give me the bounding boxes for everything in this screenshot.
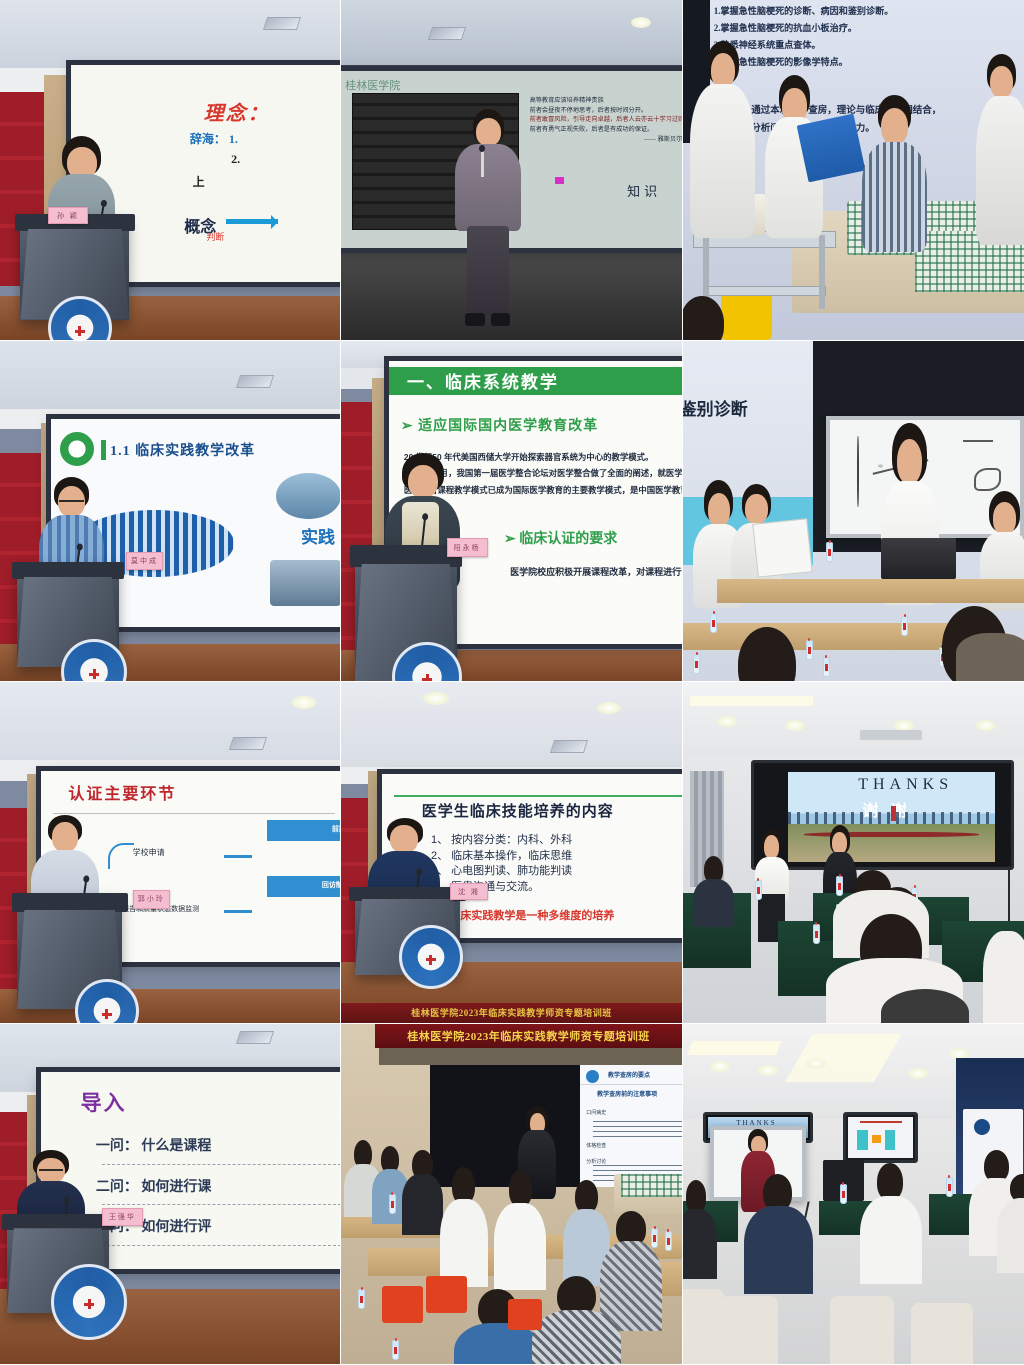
chair-back — [721, 1296, 779, 1364]
wall-tv — [843, 1112, 918, 1163]
slide-line-1: ➢ 适应国际国内医学教育改革 — [401, 415, 598, 435]
stool — [508, 1299, 542, 1330]
event-banner: 桂林医学院2023年临床实践教学师资专题培训班 — [375, 1024, 682, 1048]
water-bottle — [826, 542, 833, 562]
flow-arrow-icon-3 — [224, 910, 252, 913]
water-bottle — [389, 1194, 396, 1214]
slide-keyword: 实践 — [301, 523, 335, 548]
event-banner: 桂林医学院2023年临床实践教学师资专题培训班 — [341, 1003, 682, 1023]
photo-cell-1[interactable]: 理念： 辞海： 1. 2. 上 概念 判断 孙 颖 — [0, 0, 341, 341]
slide-line-2: 前者会昼夜不停地思考，后者按时间分开。 — [530, 106, 683, 116]
slide-title: 鉴别诊断 — [683, 395, 748, 420]
audience-member — [744, 1174, 812, 1290]
audience-member-front — [532, 1276, 621, 1365]
water-bottle — [665, 1231, 672, 1251]
stool — [426, 1276, 467, 1313]
eyeglasses-icon — [39, 1169, 63, 1173]
photo-cell-4[interactable]: 1.1 临床实践教学改革 实践 莫中成 — [0, 341, 341, 682]
water-bottle — [693, 654, 700, 674]
slide-title: 1.1 临床实践教学改革 — [110, 440, 255, 460]
chair-back — [830, 1296, 895, 1364]
flow-arrow-icon — [108, 843, 134, 869]
water-bottle — [840, 1184, 847, 1204]
flow-arrow-icon-2 — [224, 855, 252, 858]
photo-thumb-top — [276, 473, 341, 519]
slide-line-3: 3、 心电图判读、肺功能判读 — [431, 864, 683, 880]
slide-line-3: 3.熟悉神经系统重点查体。 — [714, 37, 1024, 54]
slide-line-1: 高等教育应该培养精神贵族 — [530, 96, 683, 106]
student-right — [976, 54, 1024, 244]
flow-box-1-label: 前期准 — [332, 824, 341, 834]
eyeglasses-icon — [59, 500, 83, 504]
slide-line-2: 口问病史 — [586, 1109, 606, 1116]
led-display: THANKS 谢 谢 — [751, 760, 1014, 869]
trolley-shelf — [703, 286, 826, 296]
audience-member — [683, 1180, 717, 1275]
slide-emblem — [586, 1070, 599, 1083]
projection-screen: 教学查房的要点 教学查房前的注意事项 口问病史 体格检查 分析讨论 — [580, 1065, 683, 1187]
water-bottle — [806, 640, 813, 660]
flow-box-1 — [267, 820, 341, 841]
photo-cell-3[interactable]: 1.掌握急性脑梗死的诊断、病因和鉴别诊断。 2.掌握急性脑梗死的抗血小板治疗。 … — [683, 0, 1024, 341]
discussion-table — [717, 579, 1024, 603]
water-bottle — [651, 1228, 658, 1248]
slide-line-4: 前者有勇气正视失败，后者是有成功的保证。 — [530, 125, 683, 135]
slide-line-6: 医学院校应积极开展课程改革，对课程进行合理整合”。 — [510, 565, 683, 578]
photo-cell-12[interactable]: THANKS 谢 谢 — [683, 1024, 1024, 1365]
audience-member — [494, 1170, 545, 1286]
school-emblem — [60, 432, 94, 466]
slide-title: 认证主要环节 — [68, 780, 176, 804]
student-left — [690, 41, 755, 238]
audience-body — [956, 633, 1024, 681]
slide-line-2: 2、 临床基本操作，临床思维 — [431, 849, 683, 865]
slide-line-1: 1、 按内容分类：内科、外科 — [431, 833, 683, 849]
slide-title: 教学查房的要点 — [608, 1070, 650, 1079]
slide-marker-icon — [555, 177, 564, 184]
water-bottle — [901, 616, 908, 636]
photo-cell-8[interactable]: 桂林医学院2023年临床实践教学师资专题培训班 医学生临床技能培养的内容 1、 … — [341, 682, 683, 1024]
laptop-icon — [881, 538, 956, 579]
bed-sheet — [621, 1174, 683, 1198]
chair-back — [911, 1303, 972, 1364]
audience-seated — [693, 856, 734, 924]
water-bottle — [710, 613, 717, 633]
hospital-logo — [51, 1264, 127, 1340]
photo-cell-2[interactable]: 桂林医学院 高等教育应该培养精神贵族 前者会昼夜不停地思考，后者按时间分开。 前… — [341, 0, 683, 341]
patient — [860, 95, 928, 251]
slide-line-1: 一问： 什么是课程 — [96, 1135, 212, 1155]
audience-member — [860, 1163, 921, 1279]
slide-line-1: 1.掌握急性脑梗死的诊断、病因和鉴别诊断。 — [714, 3, 1024, 20]
slide-title: 医学生临床技能培养的内容 — [422, 800, 614, 821]
audience-member — [440, 1167, 488, 1283]
photo-cell-7[interactable]: 认证主要环节 前期准 回访制度 学校申请 进展报告和质量状态数据监测 — [0, 682, 341, 1024]
photo-cell-9[interactable]: THANKS 谢 谢 — [683, 682, 1024, 1024]
slide-line-1: 辞海： 1. — [190, 130, 238, 147]
thanks-slide: THANKS 谢 谢 — [788, 772, 996, 863]
water-bottle — [836, 876, 843, 896]
slide-line-5: 判断 — [206, 230, 224, 243]
clipboard-icon — [797, 114, 866, 183]
event-banner-text: 桂林医学院2023年临床实践教学师资专题培训班 — [411, 1006, 612, 1019]
slide-line-5: —— 雅斯贝尔斯 — [530, 135, 683, 145]
slide-line-3: 前者敢冒风险，引导走向卓越，后者人云亦云十学习过则 — [530, 115, 683, 125]
slide-title: 导入 — [81, 1087, 127, 1117]
handheld-microphone-icon — [481, 150, 484, 177]
speaker-nameplate: 莫中成 — [126, 552, 163, 571]
water-bottle — [946, 1177, 953, 1197]
hospital-logo — [399, 925, 463, 989]
slide-line-3: 体格检查 — [586, 1142, 606, 1149]
flow-box-2-label: 回访制度 — [322, 880, 341, 890]
slide-footer: 临床实践教学是一种多维度的培养 — [449, 907, 614, 923]
audience-member — [997, 1174, 1024, 1269]
photo-thumb-bottom — [270, 560, 341, 606]
photo-cell-6[interactable]: 鉴别诊断 — [683, 341, 1024, 682]
slide-arrow-icon — [226, 219, 278, 224]
speaker-nameplate: 沈 湘 — [450, 883, 488, 900]
slide-title: 一、临床系统教学 — [407, 368, 559, 393]
photo-cell-11[interactable]: 桂林医学院2023年临床实践教学师资专题培训班 教学查房的要点 教学查房前的注意… — [341, 1024, 683, 1365]
speaker-nameplate: 孙 颖 — [48, 207, 89, 224]
speaker-nameplate: 阳永杨 — [447, 538, 488, 557]
event-banner-text: 桂林医学院2023年临床实践教学师资专题培训班 — [407, 1028, 650, 1044]
speaker-nameplate: 郭小玲 — [133, 890, 170, 909]
stool — [382, 1286, 423, 1323]
thanks-title: THANKS — [858, 776, 953, 794]
flow-label-school-apply: 学校申请 — [133, 847, 165, 858]
audience-body — [983, 931, 1024, 1023]
slide-line-2: 2.掌握急性脑梗死的抗血小板治疗。 — [714, 20, 1024, 37]
slide-line-5: ➢ 临床认证的要求 — [504, 528, 617, 548]
slide-title: 理念： — [204, 97, 270, 126]
photo-collage-grid: 理念： 辞海： 1. 2. 上 概念 判断 孙 颖 — [0, 0, 1024, 1365]
slide-line-2: 二问： 如何进行课 — [96, 1176, 212, 1196]
photo-cell-10[interactable]: 导入 一问： 什么是课程 二问： 如何进行课 三问： 如何进行评 王强华 — [0, 1024, 341, 1365]
water-bottle — [755, 880, 762, 900]
water-bottle — [358, 1289, 365, 1309]
medical-waste-bin — [721, 296, 772, 340]
presentation-card — [752, 518, 812, 578]
water-bottle — [823, 657, 830, 677]
chair-back — [683, 1289, 724, 1364]
slide-title: 桂林医学院 — [345, 77, 400, 93]
audience-member — [402, 1150, 443, 1232]
water-bottle — [392, 1340, 399, 1360]
photo-cell-5[interactable]: 一、临床系统教学 ➢ 适应国际国内医学教育改革 20 世纪50 年代美国西储大学… — [341, 341, 683, 682]
slide-line-2: 2. — [231, 152, 240, 167]
water-bottle — [813, 924, 820, 944]
speaker-nameplate: 王强华 — [102, 1208, 143, 1227]
slide-keyword: 知识 — [627, 181, 661, 200]
speaker — [450, 109, 525, 327]
slide-line-1: 教学查房前的注意事项 — [597, 1089, 657, 1098]
slide-line-3: 上 — [193, 173, 205, 190]
